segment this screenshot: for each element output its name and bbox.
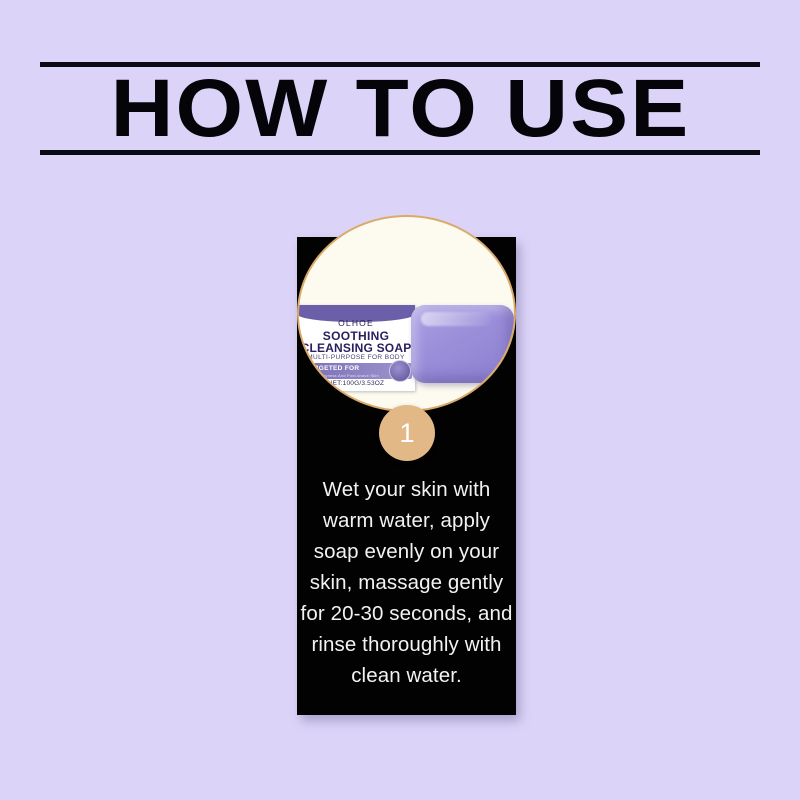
page-title-wrap: HOW TO USE (40, 67, 760, 150)
package-targeted-label: TARGETED FOR (305, 365, 359, 372)
package-seal-icon (389, 360, 411, 382)
page-title: HOW TO USE (110, 68, 690, 150)
step-instruction-text: Wet your skin with warm water, apply soa… (300, 474, 513, 691)
soap-bar-highlight (421, 312, 491, 326)
soap-package-box: OLHOE SOOTHING CLEANSING SOAP MULTI-PURP… (297, 305, 415, 391)
product-photo-circle: OLHOE SOOTHING CLEANSING SOAP MULTI-PURP… (297, 215, 516, 412)
package-net-weight: NET:100G/3.53OZ (297, 380, 415, 387)
package-targeted-subtext: Itching, Dryness And Post-shave Skin (305, 373, 379, 378)
product-photo-inner: OLHOE SOOTHING CLEANSING SOAP MULTI-PURP… (299, 217, 514, 410)
package-brand: OLHOE (297, 318, 415, 328)
package-title-line2: CLEANSING SOAP (297, 341, 415, 355)
soap-bar (411, 305, 514, 383)
step-number-label: 1 (399, 420, 414, 447)
step-number-badge: 1 (379, 405, 435, 461)
page-header: HOW TO USE (40, 62, 760, 155)
